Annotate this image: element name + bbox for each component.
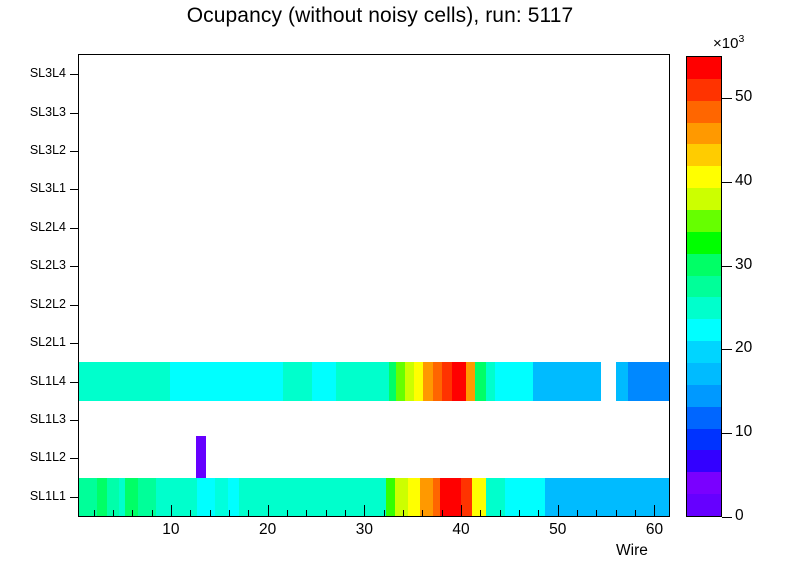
y-axis-label-sl3l2: SL3L2 — [0, 144, 66, 157]
y-axis-label-sl1l4: SL1L4 — [0, 375, 66, 388]
heatmap-cell — [97, 478, 108, 516]
x-axis-major-tick — [268, 505, 269, 516]
colorbar-segment — [687, 78, 721, 100]
heatmap-cell — [138, 478, 156, 516]
heatmap-cell — [251, 478, 386, 516]
colorbar-segment — [687, 100, 721, 122]
x-axis-minor-tick — [326, 510, 327, 516]
colorbar-segment — [687, 122, 721, 144]
heatmap-cell — [495, 362, 533, 400]
x-axis-minor-tick — [538, 510, 539, 516]
heatmap-cell — [475, 362, 486, 400]
x-axis-major-tick — [558, 505, 559, 516]
y-axis-label-sl2l1: SL2L1 — [0, 336, 66, 349]
colorbar-tick — [722, 182, 732, 183]
x-axis-major-tick — [461, 505, 462, 516]
heatmap-cell — [440, 478, 461, 516]
y-axis-tick — [70, 189, 78, 190]
heatmap-cell — [433, 478, 440, 516]
x-axis-minor-tick — [152, 510, 153, 516]
x-axis-title: Wire — [616, 542, 648, 560]
y-axis-tick — [70, 458, 78, 459]
x-axis-minor-tick — [132, 510, 133, 516]
page-title: Ocupancy (without noisy cells), run: 511… — [0, 4, 760, 28]
y-axis-label-sl1l1: SL1L1 — [0, 490, 66, 503]
colorbar-tick-label: 50 — [735, 89, 752, 105]
y-axis-label-sl3l4: SL3L4 — [0, 67, 66, 80]
colorbar-segment — [687, 319, 721, 341]
colorbar-segment — [687, 209, 721, 231]
colorbar-segment — [687, 450, 721, 472]
colorbar-segment — [687, 166, 721, 188]
heatmap-cell — [405, 362, 414, 400]
x-axis-minor-tick — [113, 510, 114, 516]
colorbar-exponent-base: ×10 — [713, 35, 738, 52]
x-axis-major-tick — [654, 505, 655, 516]
colorbar-segment — [687, 384, 721, 406]
colorbar — [686, 56, 722, 517]
colorbar-tick — [722, 349, 732, 350]
heatmap-cell — [433, 362, 442, 400]
x-axis-tick-label: 60 — [629, 521, 679, 539]
heatmap-cell — [197, 478, 215, 516]
heatmap-cell — [616, 362, 628, 400]
y-axis-tick — [70, 305, 78, 306]
colorbar-tick — [722, 517, 732, 518]
x-axis-minor-tick — [345, 510, 346, 516]
x-axis-minor-tick — [519, 510, 520, 516]
y-axis-tick — [70, 228, 78, 229]
heatmap-cell — [461, 478, 472, 516]
x-axis-minor-tick — [287, 510, 288, 516]
heatmap-cell — [336, 362, 389, 400]
x-axis-minor-tick — [384, 510, 385, 516]
colorbar-segment — [687, 297, 721, 319]
y-axis-tick — [70, 420, 78, 421]
x-axis-tick-label: 40 — [436, 521, 486, 539]
y-axis-tick — [70, 497, 78, 498]
y-axis-label-sl3l3: SL3L3 — [0, 106, 66, 119]
heatmap-cell — [452, 362, 466, 400]
heatmap-cell — [239, 478, 251, 516]
x-axis-minor-tick — [248, 510, 249, 516]
heatmap-cell — [472, 478, 486, 516]
colorbar-exponent-power: 3 — [738, 33, 744, 45]
heatmap-cell — [423, 362, 433, 400]
y-axis-label-sl1l3: SL1L3 — [0, 413, 66, 426]
x-axis-minor-tick — [229, 510, 230, 516]
colorbar-tick-label: 0 — [735, 508, 744, 524]
plot-frame — [78, 54, 670, 517]
x-axis-minor-tick — [577, 510, 578, 516]
heatmap-cell — [170, 362, 282, 400]
y-axis-label-sl2l4: SL2L4 — [0, 221, 66, 234]
colorbar-segment — [687, 56, 721, 78]
heatmap-cell — [545, 478, 669, 516]
heatmap-cell — [396, 362, 405, 400]
colorbar-tick — [722, 433, 732, 434]
colorbar-tick-label: 20 — [735, 340, 752, 356]
colorbar-segment — [687, 144, 721, 166]
y-axis-tick — [70, 382, 78, 383]
heatmap-cell — [386, 478, 395, 516]
heatmap-cell — [215, 478, 228, 516]
x-axis-minor-tick — [190, 510, 191, 516]
colorbar-tick-label: 10 — [735, 424, 752, 440]
x-axis-minor-tick — [306, 510, 307, 516]
heatmap-cell — [466, 362, 475, 400]
colorbar-segment — [687, 275, 721, 297]
y-axis-label-sl1l2: SL1L2 — [0, 451, 66, 464]
x-axis-tick-label: 50 — [533, 521, 583, 539]
y-axis-tick — [70, 74, 78, 75]
x-axis-tick-label: 20 — [243, 521, 293, 539]
heatmap-cell — [196, 436, 206, 477]
heatmap-cell — [408, 478, 420, 516]
y-axis-label-sl2l2: SL2L2 — [0, 298, 66, 311]
colorbar-segment — [687, 188, 721, 210]
x-axis-minor-tick — [480, 510, 481, 516]
x-axis-tick-label: 10 — [146, 521, 196, 539]
x-axis-minor-tick — [422, 510, 423, 516]
colorbar-tick — [722, 266, 732, 267]
colorbar-segment — [687, 406, 721, 428]
x-axis-minor-tick — [596, 510, 597, 516]
heatmap-cell — [283, 362, 313, 400]
x-axis-major-tick — [364, 505, 365, 516]
x-axis-major-tick — [171, 505, 172, 516]
x-axis-minor-tick — [403, 510, 404, 516]
heatmap-cell — [628, 362, 669, 400]
colorbar-tick-label: 30 — [735, 257, 752, 273]
heatmap-cell — [486, 362, 495, 400]
heatmap-cell — [395, 478, 408, 516]
heatmap-cell — [389, 362, 396, 400]
colorbar-tick — [722, 98, 732, 99]
y-axis-label-sl2l3: SL2L3 — [0, 259, 66, 272]
heatmap-cell — [414, 362, 423, 400]
x-axis-minor-tick — [210, 510, 211, 516]
x-axis-minor-tick — [635, 510, 636, 516]
heatmap-cell — [79, 362, 170, 400]
colorbar-tick-label: 40 — [735, 173, 752, 189]
x-axis-minor-tick — [500, 510, 501, 516]
heatmap-cell — [486, 478, 505, 516]
colorbar-segment — [687, 494, 721, 516]
x-axis-minor-tick — [442, 510, 443, 516]
x-axis-tick-label: 30 — [339, 521, 389, 539]
x-axis-minor-tick — [94, 510, 95, 516]
y-axis-label-sl3l1: SL3L1 — [0, 182, 66, 195]
heatmap-plot-area — [79, 55, 669, 516]
heatmap-cell — [533, 362, 601, 400]
y-axis-tick — [70, 113, 78, 114]
colorbar-segment — [687, 253, 721, 275]
x-axis-minor-tick — [616, 510, 617, 516]
root-canvas: Ocupancy (without noisy cells), run: 511… — [0, 0, 796, 572]
colorbar-exponent: ×103 — [713, 33, 744, 52]
colorbar-segment — [687, 362, 721, 384]
colorbar-segment — [687, 341, 721, 363]
y-axis-tick — [70, 151, 78, 152]
colorbar-segment — [687, 428, 721, 450]
y-axis-tick — [70, 343, 78, 344]
y-axis-tick — [70, 266, 78, 267]
colorbar-segment — [687, 472, 721, 494]
heatmap-cell — [312, 362, 336, 400]
colorbar-segment — [687, 231, 721, 253]
heatmap-cell — [442, 362, 451, 400]
